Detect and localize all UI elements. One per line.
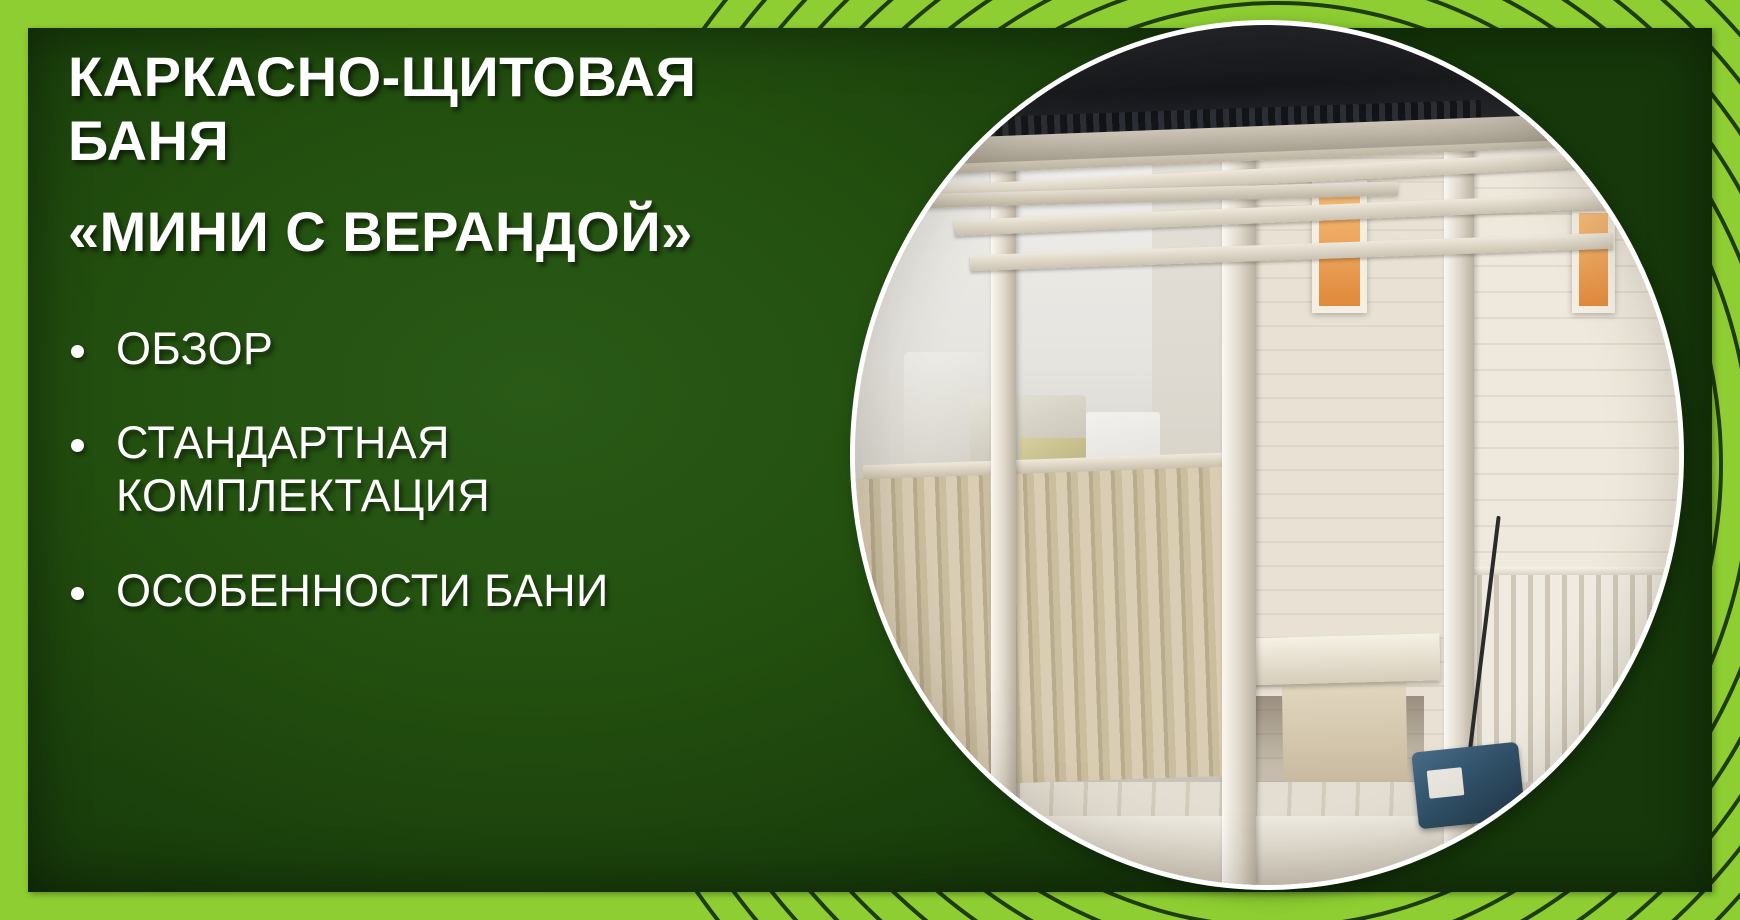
- topic-list: ОБЗОР СТАНДАРТНАЯ КОМПЛЕКТАЦИЯ ОСОБЕННОС…: [68, 323, 828, 618]
- photo-tool-label: [1426, 767, 1463, 798]
- title-line-3: «МИНИ С ВЕРАНДОЙ»: [68, 201, 828, 263]
- sauna-photo-scene: [855, 25, 1679, 885]
- list-item: ОСОБЕННОСТИ БАНИ: [68, 565, 828, 618]
- photo-deck-front: [970, 816, 1679, 885]
- photo-veranda-railing: [858, 466, 1231, 788]
- list-item: СТАНДАРТНАЯ КОМПЛЕКТАЦИЯ: [68, 417, 828, 522]
- photo-window: [1572, 206, 1615, 314]
- circular-photo: [855, 25, 1679, 885]
- text-column: КАРКАСНО-ЩИТОВАЯ БАНЯ «МИНИ С ВЕРАНДОЙ» …: [68, 46, 828, 617]
- title-line-2: БАНЯ: [68, 110, 828, 172]
- page-title: КАРКАСНО-ЩИТОВАЯ БАНЯ «МИНИ С ВЕРАНДОЙ»: [68, 46, 828, 263]
- list-item: ОБЗОР: [68, 323, 828, 376]
- title-line-1: КАРКАСНО-ЩИТОВАЯ: [68, 46, 828, 108]
- list-item-label: СТАНДАРТНАЯ КОМПЛЕКТАЦИЯ: [116, 417, 828, 522]
- poster-banner: КАРКАСНО-ЩИТОВАЯ БАНЯ «МИНИ С ВЕРАНДОЙ» …: [0, 0, 1740, 920]
- list-item-label: ОСОБЕННОСТИ БАНИ: [116, 565, 828, 618]
- list-item-label: ОБЗОР: [116, 323, 828, 376]
- photo-bench-seat: [1233, 633, 1440, 686]
- bullet-dot-icon: [71, 345, 84, 358]
- photo-post: [991, 163, 1016, 885]
- bullet-dot-icon: [71, 439, 84, 452]
- bullet-dot-icon: [71, 587, 84, 600]
- photo-post: [1222, 111, 1257, 885]
